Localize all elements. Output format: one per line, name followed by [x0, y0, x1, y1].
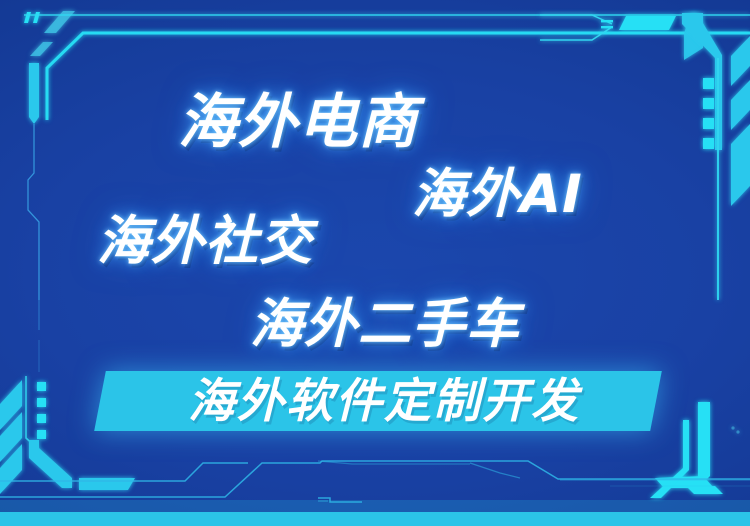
headline-usedcar: 海外二手车 — [250, 282, 520, 358]
headline-stack: 海外电商 海外AI 海外社交 海外二手车 — [0, 0, 750, 526]
headline-social: 海外社交 — [97, 199, 313, 275]
tech-promo-banner: 海外电商 海外AI 海外社交 海外二手车 海外软件定制开发 — [0, 0, 750, 526]
cta-banner-label: 海外软件定制开发 — [134, 376, 634, 428]
headline-ecommerce: 海外电商 — [178, 74, 418, 159]
headline-ai: 海外AI — [412, 152, 583, 228]
